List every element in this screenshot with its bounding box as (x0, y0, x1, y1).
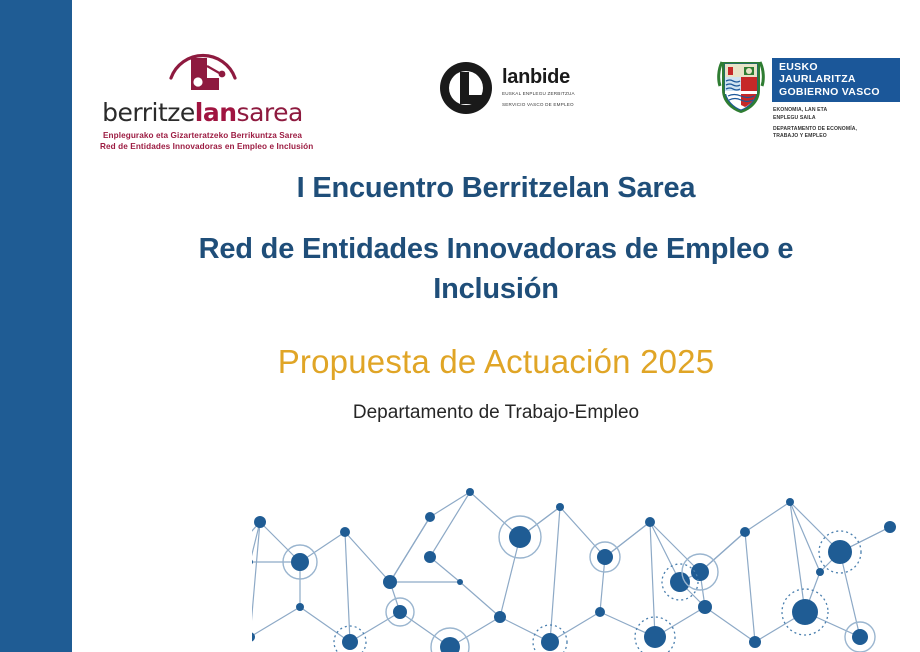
gv-department-text: EKONOMIA, LAN ETA ENPLEGU SAILA DEPARTAM… (772, 107, 900, 141)
gv-banner: EUSKO JAURLARITZA GOBIERNO VASCO (772, 58, 900, 102)
gv-dept-eu-line2: ENPLEGU SAILA (773, 115, 900, 122)
lanbide-sub-es: SERVICIO VASCO DE EMPLEO (502, 102, 575, 109)
berritzelan-word-3: sarea (237, 98, 303, 127)
berritzelan-logo: berritzelansarea Enplegurako eta Gizarte… (100, 44, 305, 152)
lanbide-clock-icon (440, 62, 492, 114)
subtitle-proposal: Propuesta de Actuación 2025 (72, 345, 920, 378)
berritzelan-wordmark: berritzelansarea (100, 100, 305, 125)
berritzelan-tagline-eu: Enplegurako eta Gizarteratzeko Berrikunt… (100, 130, 305, 141)
lanbide-name: lanbide (502, 67, 575, 87)
berritzelan-tagline: Enplegurako eta Gizarteratzeko Berrikunt… (100, 130, 305, 152)
berritzelan-word-1: berritze (102, 98, 195, 127)
berritzelan-mark-icon (155, 44, 251, 96)
logo-row: berritzelansarea Enplegurako eta Gizarte… (0, 0, 920, 160)
department-caption: Departamento de Trabajo-Empleo (72, 402, 920, 424)
gobierno-vasco-logo: EUSKO JAURLARITZA GOBIERNO VASCO EKONOMI… (716, 58, 900, 141)
gv-dept-es-line2: TRABAJO Y EMPLEO (773, 133, 900, 140)
presentation-slide: berritzelansarea Enplegurako eta Gizarte… (0, 0, 920, 652)
gv-dept-es-line1: DEPARTAMENTO DE ECONOMÍA, (773, 126, 900, 133)
gv-banner-line1: EUSKO JAURLARITZA (779, 61, 893, 86)
lanbide-logo: lanbide EUSKAL ENPLEGU ZERBITZUA SERVICI… (440, 62, 575, 114)
title-block: I Encuentro Berritzelan Sarea Red de Ent… (72, 160, 920, 424)
lanbide-sub-eu: EUSKAL ENPLEGU ZERBITZUA (502, 91, 575, 98)
title-line-1: I Encuentro Berritzelan Sarea (72, 160, 920, 203)
gv-banner-line2: GOBIERNO VASCO (779, 86, 893, 98)
berritzelan-tagline-es: Red de Entidades Innovadoras en Empleo e… (100, 141, 305, 152)
title-line-2: Red de Entidades Innovadoras de Empleo e… (136, 203, 856, 309)
basque-coat-of-arms-icon (716, 58, 766, 116)
berritzelan-word-2: lan (195, 98, 237, 127)
gv-dept-eu-line1: EKONOMIA, LAN ETA (773, 107, 900, 114)
